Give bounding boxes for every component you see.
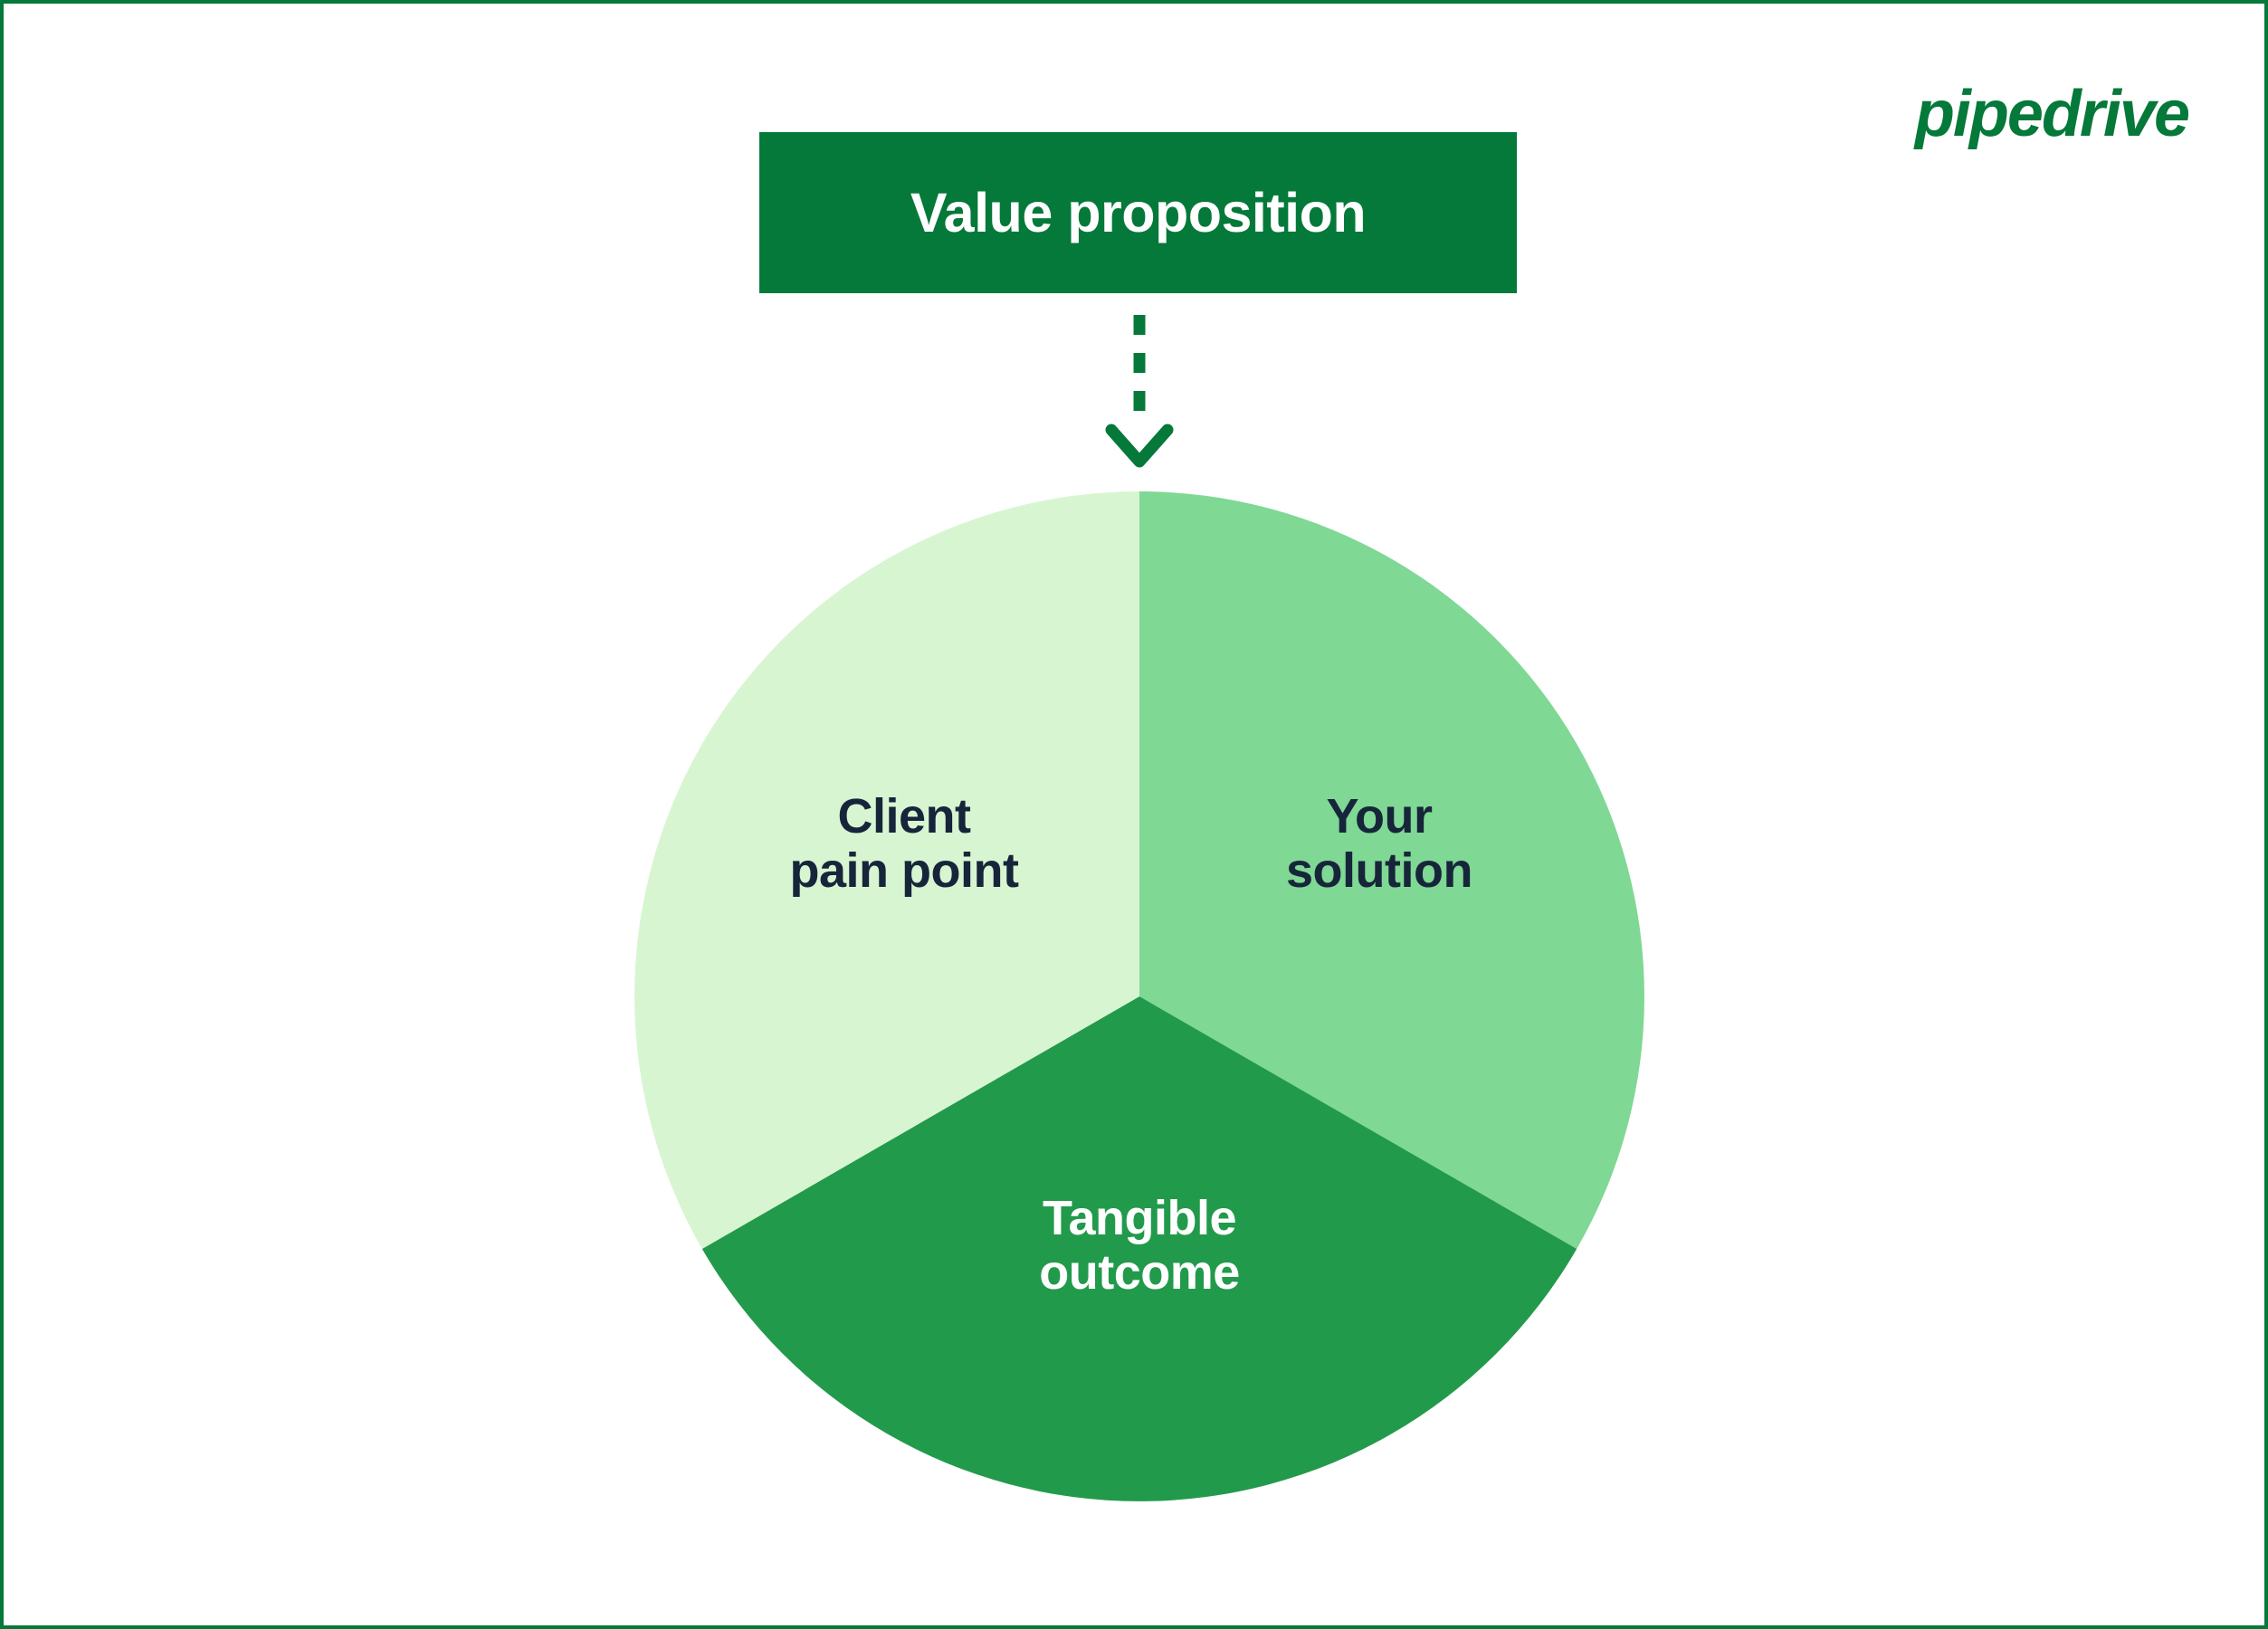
pie-label-client-pain-point: Client pain point	[691, 789, 1117, 899]
diagram-canvas: pipedrive Value proposition Client pain …	[0, 0, 2268, 1629]
pie-label-your-solution: Your solution	[1180, 789, 1578, 899]
connector-arrow	[1085, 311, 1194, 474]
page-title: Value proposition	[910, 186, 1366, 241]
dashed-down-arrow-icon	[1085, 311, 1194, 474]
pipedrive-logo: pipedrive	[1915, 81, 2188, 147]
value-proposition-title-box: Value proposition	[759, 132, 1517, 293]
value-proposition-pie-chart	[634, 491, 1644, 1501]
pie-label-tangible-outcome: Tangible outcome	[940, 1191, 1339, 1300]
pie-svg	[634, 491, 1644, 1501]
